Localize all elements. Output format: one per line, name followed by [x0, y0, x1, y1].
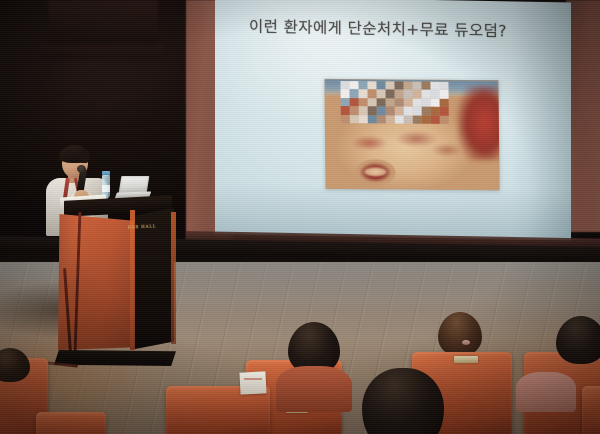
audience-head-bun: [438, 312, 482, 356]
projection-screen: 이런 환자에게 단순처치+무료 듀오덤?: [215, 0, 571, 241]
slide-title-text: 이런 환자에게 단순처치+무료 듀오덤?: [249, 15, 549, 42]
wall-panel-lower: [40, 44, 165, 60]
audience-head-long-hair: [362, 368, 444, 434]
seat-left-lower: [36, 412, 106, 434]
laptop-screen: [119, 176, 150, 193]
photo-pixelation-censor: [340, 81, 448, 124]
seat-row-front-5: [582, 386, 600, 434]
speaker-hair: [59, 145, 90, 163]
audience-shoulder-1: [276, 366, 352, 412]
podium-nameplate: BAR HALL: [124, 221, 160, 232]
audience-shoulder-right: [516, 372, 576, 412]
water-bottle-label: [102, 185, 110, 192]
hair-tie: [462, 340, 470, 345]
lecture-hall-photo: 이런 환자에게 단순처치+무료 듀오덤?: [0, 0, 600, 434]
photo-red-drape: [456, 86, 499, 160]
audience-head-right-1: [556, 316, 600, 364]
slide-clinical-photo: [324, 79, 499, 190]
program-paper: [239, 371, 266, 394]
wall-panel-upper: [48, 0, 158, 46]
podium: BAR HALL: [58, 208, 174, 356]
wall-right-maroon: [566, 0, 600, 232]
photo-wound: [355, 159, 395, 185]
podium-right-stripe: [171, 212, 176, 344]
seat-plaque-2: [454, 356, 478, 363]
program-paper-text-line: [244, 378, 262, 380]
